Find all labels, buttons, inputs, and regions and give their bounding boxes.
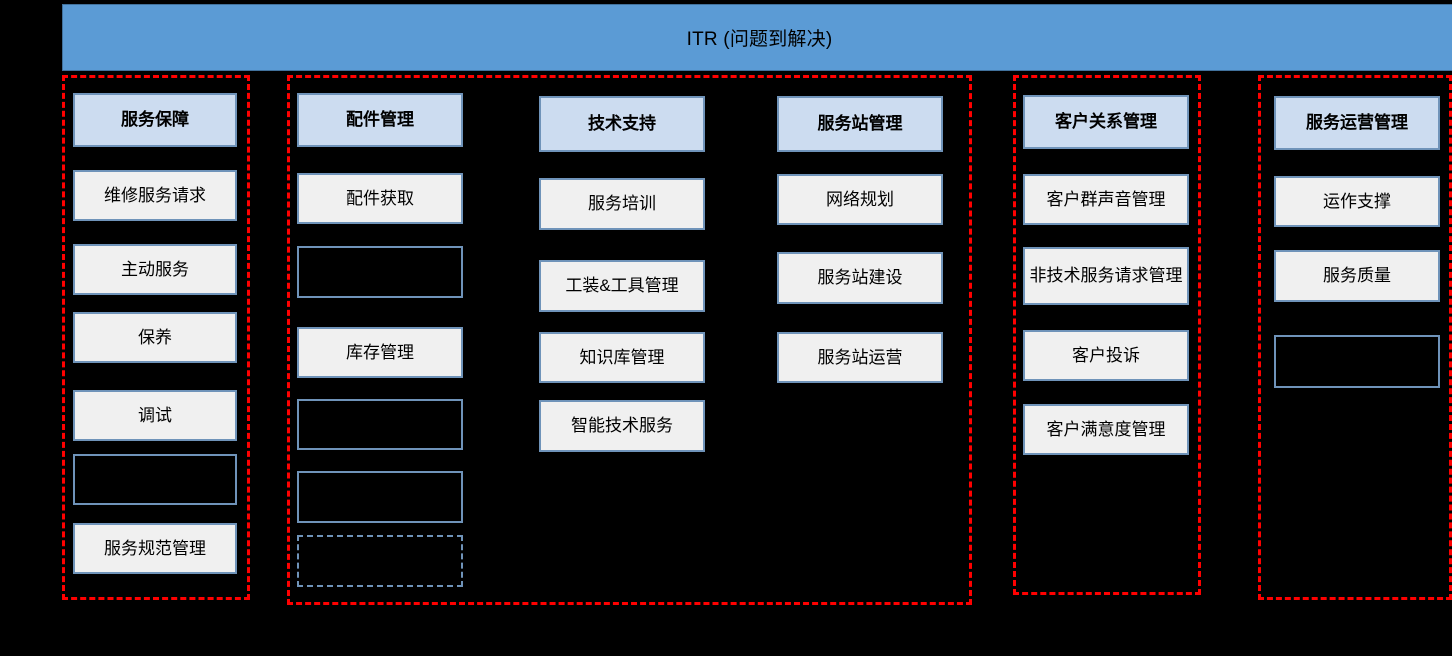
column-header-service-station-management[interactable]: 服务站管理 [777,96,943,152]
process-box[interactable]: 维修服务请求 [73,170,237,221]
process-box[interactable]: 客户群声音管理 [1023,174,1189,225]
process-box[interactable]: 服务站建设 [777,252,943,304]
process-box[interactable]: 配件获取 [297,173,463,224]
diagram-canvas: ITR (问题到解决) 服务保障维修服务请求主动服务保养调试服务规范管理配件管理… [0,0,1452,656]
process-box-label: 服务站运营 [814,348,907,368]
process-box[interactable]: 非技术服务请求管理 [1023,247,1189,305]
process-box-label: 知识库管理 [576,348,669,368]
process-box-label: 客户投诉 [1068,346,1144,366]
process-box[interactable]: 服务规范管理 [73,523,237,574]
process-box-label: 服务培训 [584,194,660,214]
process-box[interactable]: 智能技术服务 [539,400,705,452]
empty-box[interactable] [1274,335,1440,388]
column-header-label: 服务运营管理 [1302,113,1412,133]
process-box-label: 客户满意度管理 [1043,420,1170,440]
process-box-label: 保养 [134,328,176,348]
process-box[interactable]: 工装&工具管理 [539,260,705,312]
process-box[interactable]: 调试 [73,390,237,441]
process-box-label: 智能技术服务 [567,416,677,436]
process-box-label: 库存管理 [342,343,418,363]
process-box-label: 客户群声音管理 [1043,190,1170,210]
column-header-label: 客户关系管理 [1051,112,1161,132]
column-header-parts-management[interactable]: 配件管理 [297,93,463,147]
empty-box[interactable] [73,454,237,505]
process-box-label: 服务规范管理 [100,539,210,559]
empty-box[interactable] [297,535,463,587]
column-header-technical-support[interactable]: 技术支持 [539,96,705,152]
process-box[interactable]: 保养 [73,312,237,363]
column-header-label: 配件管理 [342,110,418,130]
process-box[interactable]: 服务质量 [1274,250,1440,302]
itr-banner: ITR (问题到解决) [62,4,1452,71]
process-box[interactable]: 客户投诉 [1023,330,1189,381]
process-box-label: 主动服务 [117,260,193,280]
process-box[interactable]: 知识库管理 [539,332,705,383]
empty-box[interactable] [297,471,463,523]
column-header-service-guarantee[interactable]: 服务保障 [73,93,237,147]
process-box-label: 服务站建设 [814,268,907,288]
process-box-label: 配件获取 [342,189,418,209]
process-box[interactable]: 网络规划 [777,174,943,225]
empty-box[interactable] [297,246,463,298]
process-box[interactable]: 客户满意度管理 [1023,404,1189,455]
process-box[interactable]: 主动服务 [73,244,237,295]
process-box[interactable]: 运作支撑 [1274,176,1440,227]
process-box-label: 调试 [134,406,176,426]
process-box-label: 服务质量 [1319,266,1395,286]
process-box-label: 工装&工具管理 [561,276,682,296]
column-header-label: 服务保障 [117,110,193,130]
column-header-label: 服务站管理 [814,114,907,134]
process-box-label: 网络规划 [822,190,898,210]
column-header-label: 技术支持 [584,114,660,134]
column-header-service-operation-management[interactable]: 服务运营管理 [1274,96,1440,150]
banner-title: ITR (问题到解决) [687,24,833,51]
column-header-customer-relationship-management[interactable]: 客户关系管理 [1023,95,1189,149]
process-box[interactable]: 服务培训 [539,178,705,230]
process-box-label: 维修服务请求 [100,186,210,206]
process-box[interactable]: 库存管理 [297,327,463,378]
process-box[interactable]: 服务站运营 [777,332,943,383]
process-box-label: 运作支撑 [1319,192,1395,212]
process-box-label: 非技术服务请求管理 [1026,266,1187,286]
empty-box[interactable] [297,399,463,450]
